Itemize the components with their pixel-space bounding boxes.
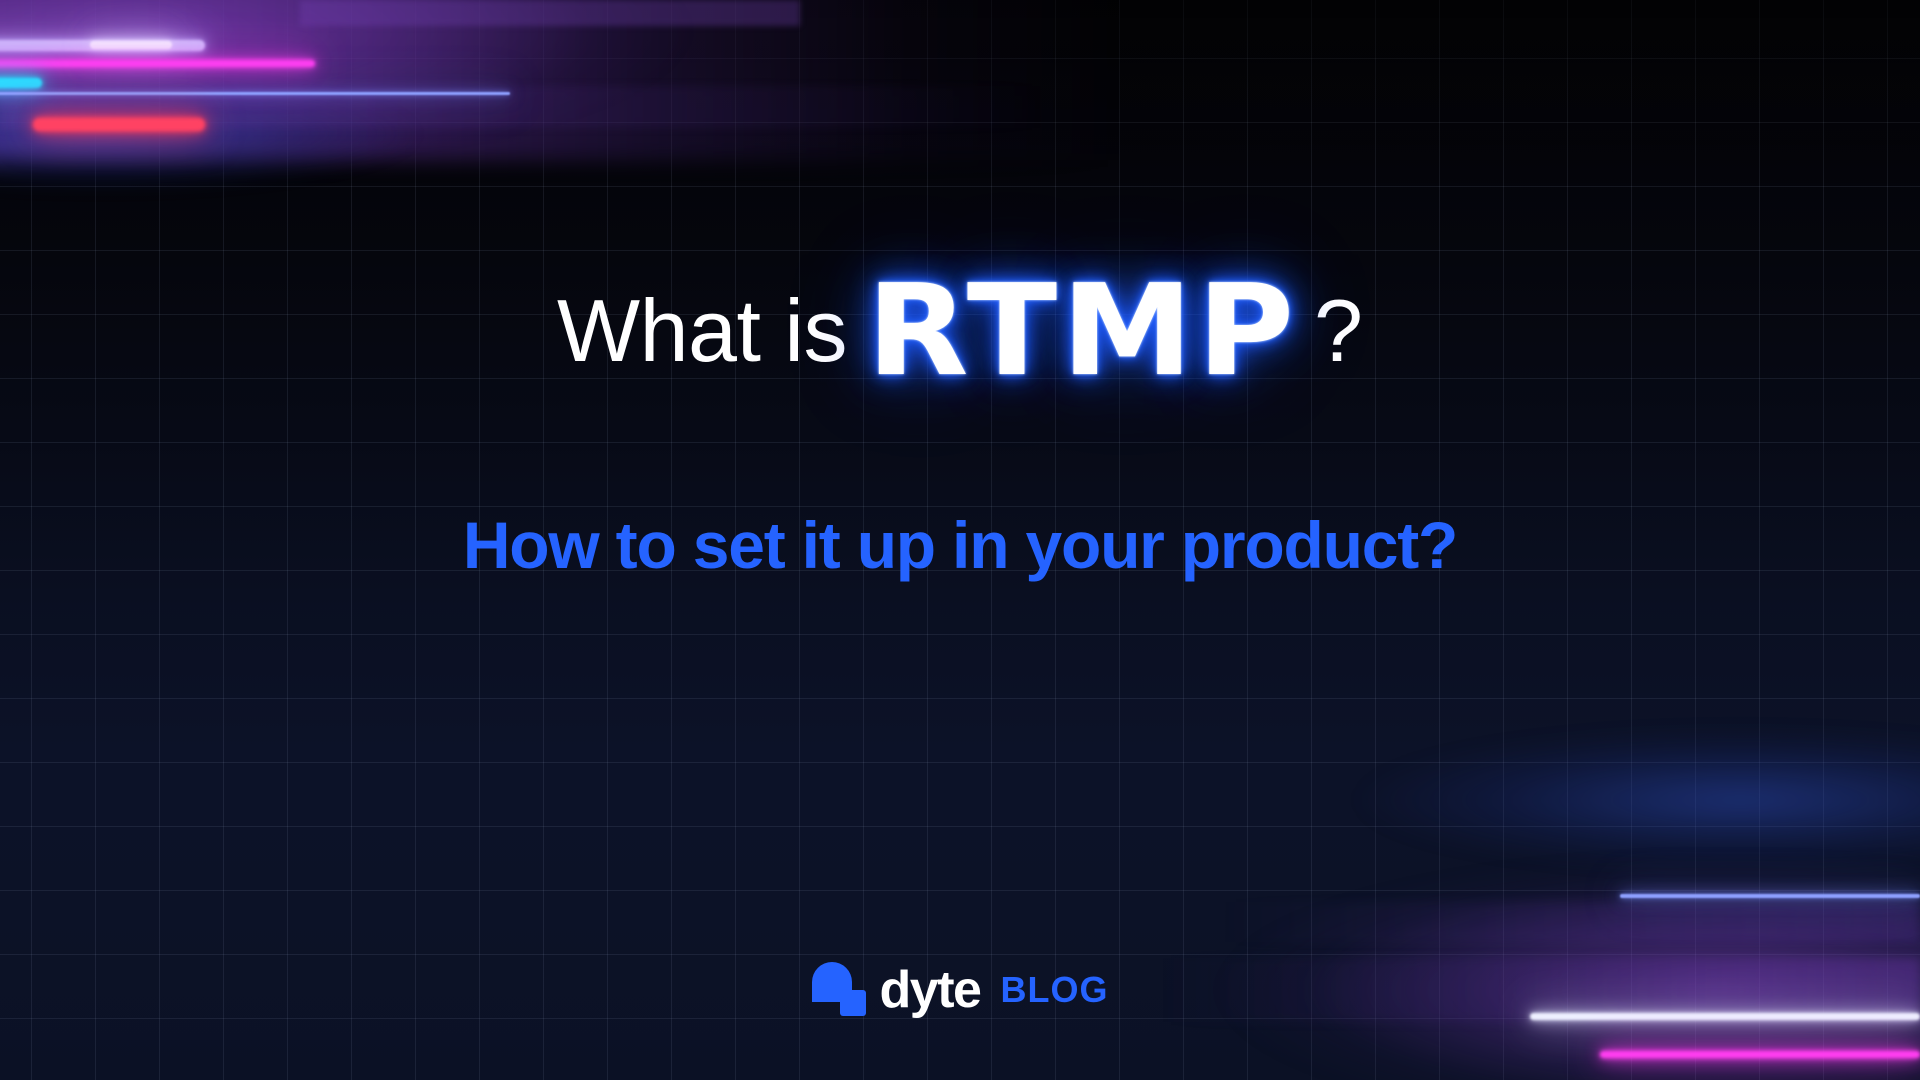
- blue-hairline-br: [1620, 894, 1920, 898]
- blue-hairline: [0, 92, 510, 95]
- brand-name: dyte: [880, 964, 981, 1016]
- red-streak: [33, 118, 205, 131]
- purple-block-upper: [300, 0, 800, 26]
- magenta-streak: [0, 60, 315, 67]
- footer-brand-lockup: dyte BLOG: [0, 962, 1920, 1018]
- title-prefix: What is: [557, 287, 847, 375]
- page-subtitle: How to set it up in your product?: [0, 512, 1920, 578]
- logo-square-shape: [840, 990, 866, 1016]
- magenta-streak-br: [1600, 1051, 1920, 1058]
- purple-glow-blob-br: [980, 810, 1920, 1080]
- title-suffix: ?: [1314, 287, 1363, 375]
- brand-section-label: BLOG: [1000, 972, 1108, 1008]
- purple-block-upper-br: [1220, 902, 1920, 942]
- title-keyword-rtmp: RTMP: [867, 268, 1299, 394]
- page-title: What is RTMP ?: [0, 268, 1920, 394]
- dyte-logo-icon: [812, 962, 866, 1018]
- cyan-streak: [0, 78, 42, 88]
- top-left-decoration: [0, 0, 1120, 200]
- white-streak: [90, 41, 172, 49]
- banner-canvas: What is RTMP ? How to set it up in your …: [0, 0, 1920, 1080]
